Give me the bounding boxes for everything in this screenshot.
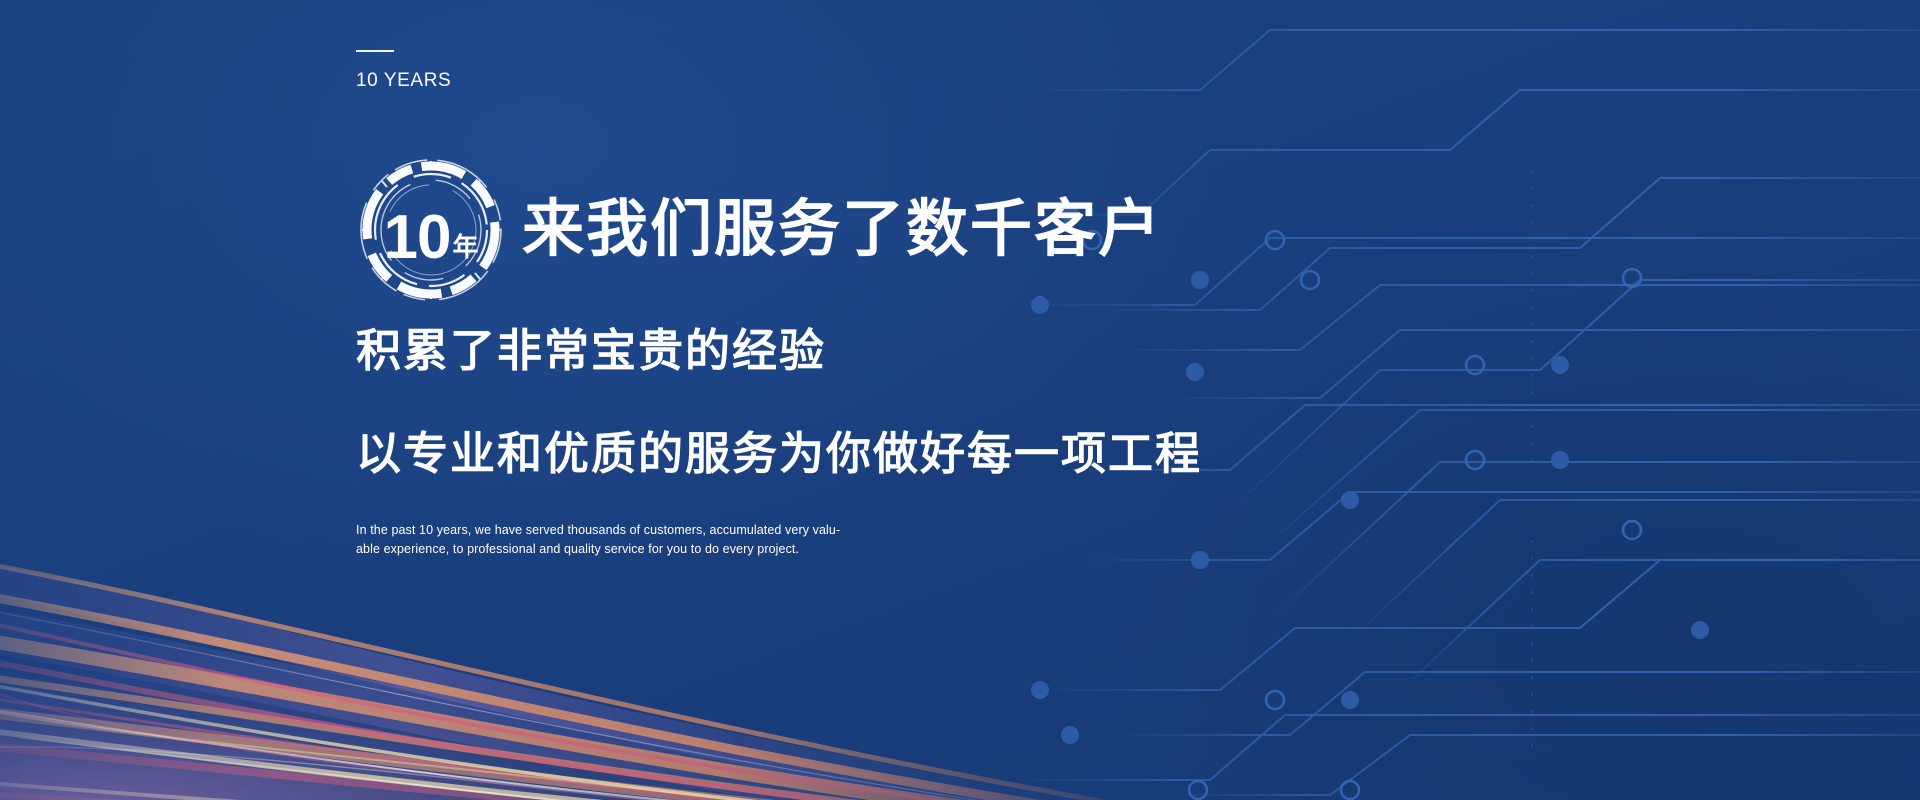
description-paragraph: In the past 10 years, we have served tho…: [356, 521, 786, 560]
page-title: 来我们服务了数千客户: [522, 199, 1162, 261]
hero-banner: 10 YEARS: [0, 0, 1920, 800]
eyebrow-rule: [356, 50, 394, 52]
content-block: 10 YEARS: [356, 0, 1556, 800]
eyebrow-label: 10 YEARS: [356, 70, 451, 92]
anniversary-badge: 10 年: [356, 155, 506, 305]
headline-row: 10 年 来我们服务了数千客户: [356, 155, 1162, 305]
subheading-2: 以专业和优质的服务为你做好每一项工程: [356, 428, 1202, 480]
description-line-2: able experience, to professional and qua…: [356, 540, 786, 559]
badge-text: 10 年: [356, 155, 506, 305]
subheading-1: 积累了非常宝贵的经验: [356, 325, 826, 377]
badge-unit: 年: [452, 234, 478, 260]
description-line-1: In the past 10 years, we have served tho…: [356, 521, 786, 540]
badge-number: 10: [384, 207, 451, 269]
